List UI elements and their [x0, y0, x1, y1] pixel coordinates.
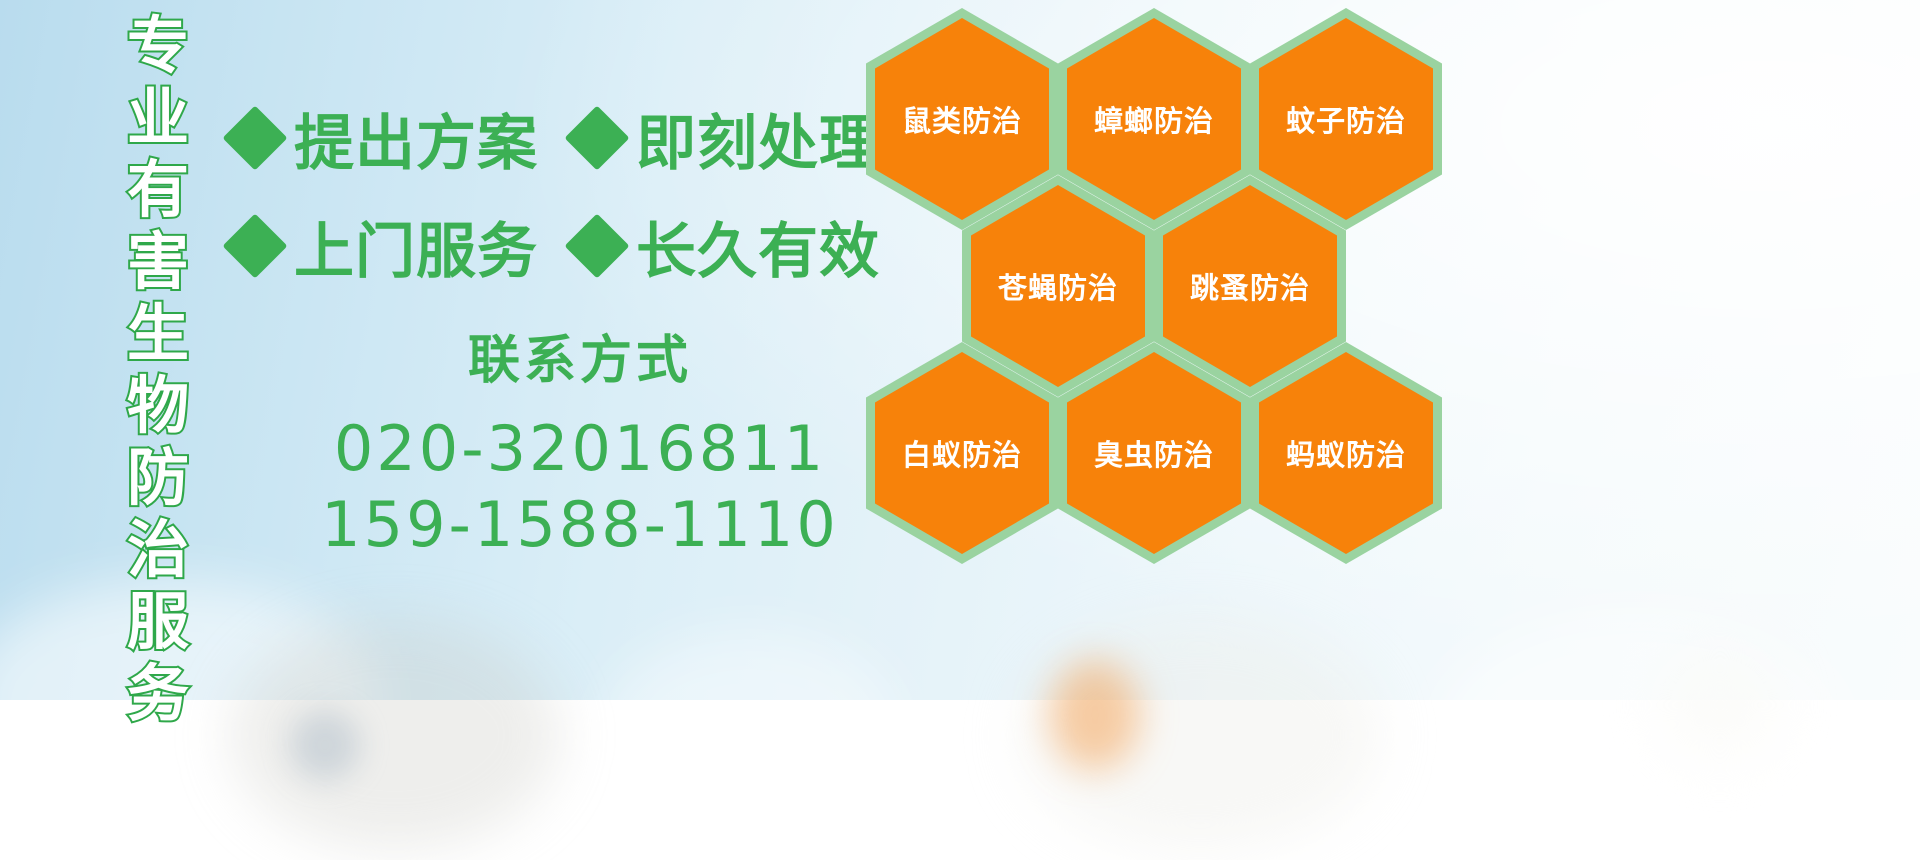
- feature-item: 上门服务: [232, 203, 538, 290]
- vertical-headline-char: 物: [127, 370, 189, 442]
- feature-list: 提出方案 即刻处理 上门服务 长久有效: [232, 84, 872, 300]
- service-label: 蚊子防治: [1286, 98, 1406, 140]
- vertical-headline-char: 务: [127, 658, 189, 730]
- service-label: 蟑螂防治: [1094, 98, 1214, 140]
- service-label: 臭虫防治: [1094, 432, 1214, 474]
- hex-inner: 蚊子防治: [1259, 18, 1433, 220]
- diamond-bullet-icon: [564, 105, 629, 170]
- service-label: 鼠类防治: [902, 98, 1022, 140]
- vertical-headline: 专 业 有 害 生 物 防 治 服 务: [108, 10, 208, 690]
- bokeh-blob: [230, 620, 560, 850]
- hex-inner: 苍蝇防治: [971, 185, 1145, 387]
- feature-item: 提出方案: [232, 95, 538, 182]
- diamond-bullet-icon: [222, 213, 287, 278]
- service-label: 蚂蚁防治: [1286, 432, 1406, 474]
- feature-item: 即刻处理: [574, 95, 880, 182]
- phone-number-mobile[interactable]: 159-1588-1110: [300, 487, 860, 563]
- feature-row: 提出方案 即刻处理: [232, 84, 872, 192]
- vertical-headline-char: 服: [127, 586, 189, 658]
- bokeh-blob: [600, 630, 900, 840]
- service-label: 白蚁防治: [902, 432, 1022, 474]
- feature-item: 长久有效: [574, 203, 880, 290]
- diamond-bullet-icon: [222, 105, 287, 170]
- contact-block: 联系方式 020-32016811 159-1588-1110: [300, 318, 860, 563]
- feature-row: 上门服务 长久有效: [232, 192, 872, 300]
- phone-number-landline[interactable]: 020-32016811: [300, 411, 860, 487]
- feature-label: 长久有效: [636, 203, 880, 290]
- service-honeycomb: 鼠类防治 蟑螂防治 蚊子防治 苍蝇防治 跳蚤防治 白蚁防治: [856, 0, 1476, 700]
- diamond-bullet-icon: [564, 213, 629, 278]
- contact-heading: 联系方式: [300, 318, 860, 393]
- hex-inner: 臭虫防治: [1067, 352, 1241, 554]
- vertical-headline-char: 害: [127, 226, 189, 298]
- hex-inner: 跳蚤防治: [1163, 185, 1337, 387]
- hex-inner: 白蚁防治: [875, 352, 1049, 554]
- hex-inner: 鼠类防治: [875, 18, 1049, 220]
- hex-inner: 蚂蚁防治: [1259, 352, 1433, 554]
- vertical-headline-char: 专: [127, 10, 189, 82]
- vertical-headline-char: 有: [127, 154, 189, 226]
- service-label: 苍蝇防治: [998, 265, 1118, 307]
- bokeh-blob: [1660, 650, 1780, 760]
- vertical-headline-char: 防: [127, 442, 189, 514]
- bokeh-blob: [1430, 610, 1850, 860]
- banner-background: 专 业 有 害 生 物 防 治 服 务 提出方案 即刻处理 上门服务: [0, 0, 1920, 700]
- feature-label: 提出方案: [294, 95, 538, 182]
- bokeh-blob: [290, 710, 360, 780]
- feature-label: 上门服务: [294, 203, 538, 290]
- service-label: 跳蚤防治: [1190, 265, 1310, 307]
- feature-label: 即刻处理: [636, 95, 880, 182]
- hex-inner: 蟑螂防治: [1067, 18, 1241, 220]
- vertical-headline-char: 生: [127, 298, 189, 370]
- vertical-headline-char: 业: [127, 82, 189, 154]
- vertical-headline-char: 治: [127, 514, 189, 586]
